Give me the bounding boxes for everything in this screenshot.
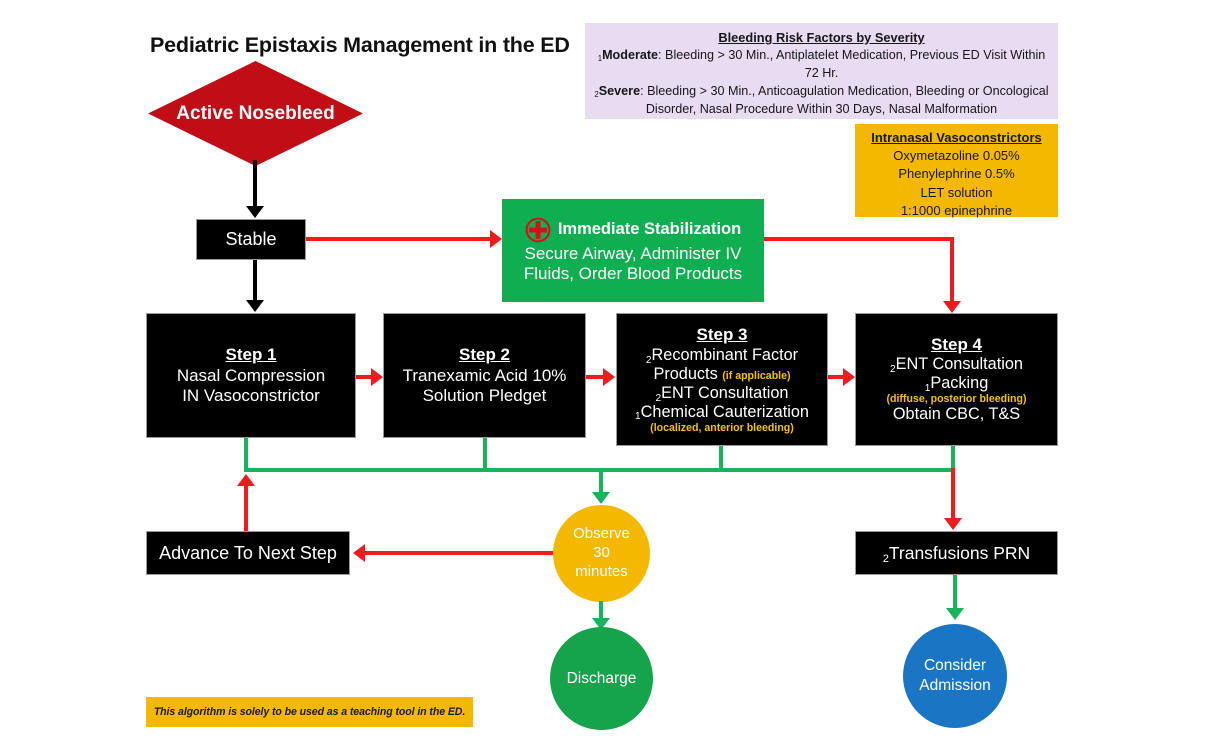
legend-bleeding-risk-factors: Bleeding Risk Factors by Severity 1Moder… xyxy=(585,23,1058,119)
node-advance-label: Advance To Next Step xyxy=(159,543,337,564)
node-stabilization-line1: Secure Airway, Administer IV xyxy=(525,244,742,264)
marker-2: 2 xyxy=(890,364,896,375)
node-discharge[interactable]: Discharge xyxy=(550,627,653,730)
node-step-4-line3: Obtain CBC, T&S xyxy=(893,405,1020,424)
node-transfusion-label: Transfusions PRN xyxy=(889,543,1030,563)
legend-vaso-heading: Intranasal Vasoconstrictors xyxy=(855,129,1058,147)
node-step-3[interactable]: Step 3 2Recombinant Factor Products (if … xyxy=(616,313,828,446)
node-step-3-line3-text: ENT Consultation xyxy=(661,384,788,402)
node-step-3-line4-text: Chemical Cauterization xyxy=(641,403,809,421)
arrow-stabilization-to-step4 xyxy=(943,301,961,313)
node-step-4-line2-text: Packing xyxy=(930,374,988,392)
connector-stable-to-stabilization xyxy=(306,237,492,241)
marker-2: 2 xyxy=(594,90,598,99)
node-step-3-line2-text: Products xyxy=(653,365,717,383)
node-step-2-heading: Step 2 xyxy=(459,345,510,365)
legend-vaso-item: Phenylephrine 0.5% xyxy=(855,165,1058,183)
teaching-tool-disclaimer: This algorithm is solely to be used as a… xyxy=(146,697,473,727)
arrow-step3-to-step4 xyxy=(843,368,855,386)
node-step-3-line1: 2Recombinant Factor xyxy=(646,346,798,365)
node-step-3-heading: Step 3 xyxy=(696,325,747,345)
arrow-stable-to-stabilization xyxy=(490,230,502,248)
marker-2: 2 xyxy=(656,393,662,404)
node-immediate-stabilization[interactable]: Immediate Stabilization Secure Airway, A… xyxy=(502,199,764,302)
node-step-3-line2: Products (if applicable) xyxy=(653,365,790,384)
connector-bus-to-observe xyxy=(599,468,603,494)
connector-step2-stub xyxy=(483,438,487,470)
node-stable-label: Stable xyxy=(225,229,276,250)
node-step-3-line3: 2ENT Consultation xyxy=(656,384,789,403)
node-step-1[interactable]: Step 1 Nasal Compression IN Vasoconstric… xyxy=(146,313,356,438)
node-observe-30-minutes[interactable]: Observe 30 minutes xyxy=(553,505,650,602)
node-observe-line2: 30 xyxy=(593,544,610,563)
legend-severe-label: Severe xyxy=(599,84,640,98)
connector-start-to-stable xyxy=(253,160,257,208)
node-admission-line1: Consider xyxy=(924,656,986,676)
legend-moderate-label: Moderate xyxy=(602,48,658,62)
marker-1: 1 xyxy=(925,383,931,394)
node-stable[interactable]: Stable xyxy=(196,219,306,260)
arrow-bus-to-observe xyxy=(592,492,610,504)
node-step-4-line1-text: ENT Consultation xyxy=(896,355,1023,373)
node-admission-line2: Admission xyxy=(919,676,991,696)
connector-step3-stub xyxy=(719,446,723,470)
legend-severe-text: : Bleeding > 30 Min., Anticoagulation Me… xyxy=(640,84,1049,117)
node-step-4-line1: 2ENT Consultation xyxy=(890,355,1023,374)
legend-vaso-item: Oxymetazoline 0.05% xyxy=(855,147,1058,165)
legend-vaso-item: 1:1000 epinephrine xyxy=(855,202,1058,220)
connector-observe-to-advance xyxy=(365,551,555,555)
node-active-nosebleed-label: Active Nosebleed xyxy=(148,61,363,166)
node-step-2-line1: Tranexamic Acid 10% xyxy=(403,366,567,386)
node-stabilization-title: Immediate Stabilization xyxy=(558,220,741,240)
marker-2: 2 xyxy=(883,553,889,565)
node-step-4-line2-note: (diffuse, posterior bleeding) xyxy=(886,393,1026,405)
node-advance-to-next-step[interactable]: Advance To Next Step xyxy=(146,531,350,575)
node-step-1-heading: Step 1 xyxy=(225,345,276,365)
node-transfusions-prn[interactable]: 2Transfusions PRN xyxy=(855,531,1058,575)
marker-2: 2 xyxy=(646,355,652,366)
arrow-step1-to-step2 xyxy=(371,368,383,386)
legend-moderate-text: : Bleeding > 30 Min., Antiplatelet Medic… xyxy=(658,48,1045,81)
connector-stabilization-to-step4-vertical xyxy=(950,237,954,303)
connector-stabilization-to-step4-horizontal xyxy=(764,237,954,241)
connector-step1-stub xyxy=(244,438,248,470)
node-step-3-line2-note: (if applicable) xyxy=(722,370,790,382)
page-title: Pediatric Epistaxis Management in the ED xyxy=(150,33,620,58)
node-consider-admission[interactable]: Consider Admission xyxy=(903,624,1007,728)
legend-risk-moderate: 1Moderate: Bleeding > 30 Min., Antiplate… xyxy=(591,47,1052,83)
arrow-advance-to-step1 xyxy=(237,474,255,486)
node-step-3-line1-text: Recombinant Factor xyxy=(652,346,799,364)
connector-step4-stub xyxy=(951,446,955,470)
arrow-transfusions-to-admission xyxy=(946,608,964,620)
node-step-3-line4: 1Chemical Cauterization xyxy=(635,403,809,422)
arrow-step2-to-step3 xyxy=(603,368,615,386)
marker-1: 1 xyxy=(635,411,641,422)
stabilization-title-row: Immediate Stabilization xyxy=(525,217,741,243)
connector-advance-to-step1 xyxy=(244,485,248,533)
node-stabilization-line2: Fluids, Order Blood Products xyxy=(524,264,742,284)
connector-transfusions-to-admission xyxy=(953,575,957,610)
node-discharge-label: Discharge xyxy=(567,669,637,689)
node-active-nosebleed[interactable]: Active Nosebleed xyxy=(148,61,363,166)
node-step-3-line4-note: (localized, anterior bleeding) xyxy=(650,422,794,434)
flowchart-canvas: Pediatric Epistaxis Management in the ED… xyxy=(0,0,1218,754)
legend-risk-severe: 2Severe: Bleeding > 30 Min., Anticoagula… xyxy=(591,83,1052,119)
node-step-4-heading: Step 4 xyxy=(931,335,982,355)
arrow-step4-to-transfusions xyxy=(944,518,962,530)
arrow-start-to-stable xyxy=(246,206,264,218)
connector-stable-to-step1 xyxy=(253,260,257,302)
node-step-1-line1: Nasal Compression xyxy=(177,366,325,386)
node-transfusion-line: 2Transfusions PRN xyxy=(883,543,1030,563)
node-step-4-line2: 1Packing xyxy=(925,374,989,393)
node-step-4[interactable]: Step 4 2ENT Consultation 1Packing (diffu… xyxy=(855,313,1058,446)
legend-intranasal-vasoconstrictors: Intranasal Vasoconstrictors Oxymetazolin… xyxy=(855,124,1058,217)
marker-1: 1 xyxy=(598,54,602,63)
node-observe-line1: Observe xyxy=(573,525,630,544)
connector-step4-to-transfusions xyxy=(951,468,955,520)
node-observe-line3: minutes xyxy=(575,563,628,582)
legend-vaso-item: LET solution xyxy=(855,184,1058,202)
node-step-1-line2: IN Vasoconstrictor xyxy=(182,386,320,406)
medical-cross-icon xyxy=(525,217,551,243)
node-step-2-line2: Solution Pledget xyxy=(423,386,547,406)
node-step-2[interactable]: Step 2 Tranexamic Acid 10% Solution Pled… xyxy=(383,313,586,438)
arrow-observe-to-advance xyxy=(353,544,365,562)
arrow-stable-to-step1 xyxy=(246,300,264,312)
legend-risk-heading: Bleeding Risk Factors by Severity xyxy=(591,29,1052,47)
